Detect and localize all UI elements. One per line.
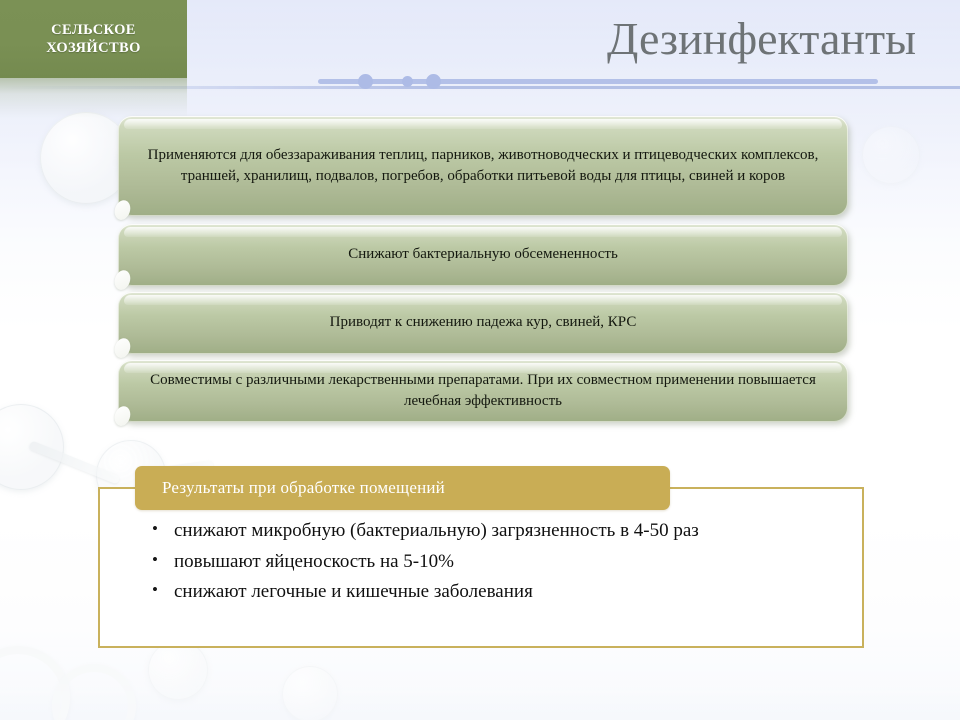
dot-icon — [402, 76, 413, 87]
category-label: СЕЛЬСКОЕХОЗЯЙСТВО — [46, 21, 141, 57]
list-item: снижают микробную (бактериальную) загряз… — [148, 519, 848, 544]
statement-text: Снижают бактериальную обсемененность — [322, 244, 644, 265]
results-bullet-list: снижают микробную (бактериальную) загряз… — [148, 519, 848, 611]
dot-icon — [358, 74, 373, 89]
statement-box: Снижают бактериальную обсемененность — [118, 224, 848, 286]
statement-text: Применяются для обеззараживания теплиц, … — [118, 145, 848, 188]
page-title: Дезинфектанты — [607, 12, 916, 65]
results-header-label: Результаты при обработке помещений — [135, 478, 445, 498]
results-header-tab: Результаты при обработке помещений — [135, 466, 670, 510]
list-item: снижают легочные и кишечные заболевания — [148, 580, 848, 605]
category-block-shadow — [0, 78, 187, 118]
category-block: СЕЛЬСКОЕХОЗЯЙСТВО — [0, 0, 187, 78]
list-item: повышают яйценоскость на 5-10% — [148, 550, 848, 575]
statement-box: Совместимы с различными лекарственными п… — [118, 360, 848, 422]
statement-text: Совместимы с различными лекарственными п… — [118, 370, 848, 413]
dot-icon — [426, 74, 441, 89]
dot-connector-decoration — [318, 72, 878, 90]
statement-box: Применяются для обеззараживания теплиц, … — [118, 116, 848, 216]
statement-box: Приводят к снижению падежа кур, свиней, … — [118, 292, 848, 354]
slide-canvas: СЕЛЬСКОЕХОЗЯЙСТВО Дезинфектанты Применяю… — [0, 0, 960, 720]
statement-text: Приводят к снижению падежа кур, свиней, … — [304, 312, 663, 333]
